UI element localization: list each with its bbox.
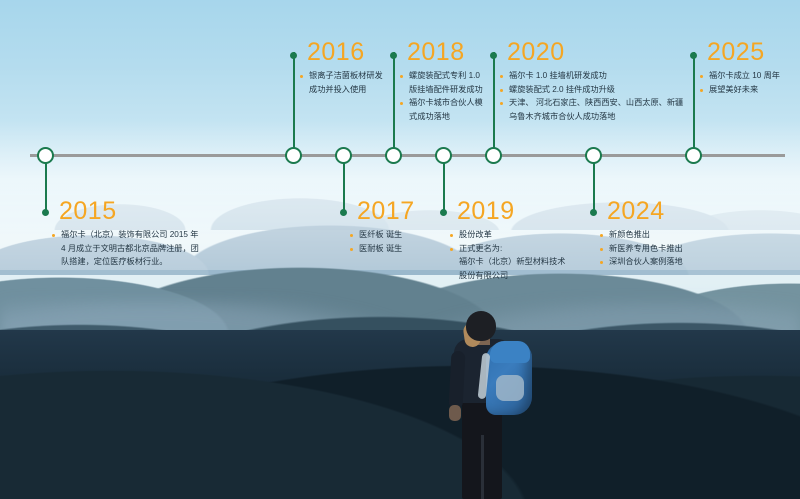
timeline-node-2016[interactable] [285,147,302,164]
timeline-stem-dot-2016 [290,52,297,59]
bullet-item: 股份改革 [450,229,565,242]
bullet-list: 银离子洁菌板材研发成功并投入使用 [300,70,383,96]
year-label-2016: 2016 [307,38,365,67]
hiker-leg-gap [481,435,484,499]
milestone-block-2020: 福尔卡 1.0 挂墙机研发成功螺旋装配式 2.0 挂件成功升级天津、 河北石家庄… [500,70,683,124]
milestone-block-2025: 福尔卡成立 10 周年展望美好未来 [700,70,780,97]
bullet-list: 福尔卡成立 10 周年展望美好未来 [700,70,780,96]
milestone-block-2015: 福尔卡（北京）装饰有限公司 2015 年4 月成立于文明古都北京品牌注册，团队搭… [52,229,199,270]
hiker-head [466,311,496,341]
bullet-item: 医纤板 诞生 [350,229,402,242]
timeline-stem-2015 [45,160,47,212]
bullet-item: 正式更名为: [450,243,565,256]
milestone-block-2024: 新颜色推出新医养专用色卡推出深圳合伙人案例落地 [600,229,683,270]
bullet-list: 新颜色推出新医养专用色卡推出深圳合伙人案例落地 [600,229,683,269]
bullet-item: 队搭建，定位医疗板材行业。 [52,256,199,269]
bullet-item: 银离子洁菌板材研发 [300,70,383,83]
bullet-item: 新医养专用色卡推出 [600,243,683,256]
bullet-list: 福尔卡（北京）装饰有限公司 2015 年4 月成立于文明古都北京品牌注册，团队搭… [52,229,199,269]
hiker-hand [449,405,461,421]
timeline-stem-2020 [493,52,495,152]
milestone-block-2017: 医纤板 诞生医耐板 诞生 [350,229,402,256]
hiker-backpack-lid [490,341,530,363]
year-label-2025: 2025 [707,38,765,67]
milestone-block-2016: 银离子洁菌板材研发成功并投入使用 [300,70,383,97]
timeline-infographic: 2016银离子洁菌板材研发成功并投入使用2018螺旋装配式专利 1.0版挂墙配件… [0,0,800,499]
milestone-block-2018: 螺旋装配式专利 1.0版挂墙配件研发成功福尔卡城市合伙人模式成功落地 [400,70,483,124]
timeline-stem-2017 [343,160,345,212]
milestone-block-2019: 股份改革正式更名为:福尔卡（北京）新型材料技术股份有限公司 [450,229,565,283]
bullet-item: 福尔卡（北京）装饰有限公司 2015 年 [52,229,199,242]
bullet-item: 股份有限公司 [450,270,565,283]
year-label-2018: 2018 [407,38,465,67]
timeline-node-2020[interactable] [485,147,502,164]
year-label-2015: 2015 [59,197,117,226]
bullet-item: 福尔卡（北京）新型材料技术 [450,256,565,269]
bullet-list: 医纤板 诞生医耐板 诞生 [350,229,402,255]
timeline-node-2024[interactable] [585,147,602,164]
year-label-2019: 2019 [457,197,515,226]
timeline-node-2019[interactable] [435,147,452,164]
hiker-figure [430,305,550,499]
bullet-item: 福尔卡成立 10 周年 [700,70,780,83]
timeline-stem-dot-2020 [490,52,497,59]
timeline-stem-2016 [293,52,295,152]
bullet-item: 乌鲁木齐城市合伙人成功落地 [500,111,683,124]
timeline-stem-dot-2024 [590,209,597,216]
bullet-list: 福尔卡 1.0 挂墙机研发成功螺旋装配式 2.0 挂件成功升级天津、 河北石家庄… [500,70,683,123]
bullet-item: 成功并投入使用 [300,84,383,97]
year-label-2017: 2017 [357,197,415,226]
timeline-stem-2024 [593,160,595,212]
bullet-item: 展望美好未来 [700,84,780,97]
hiker-backpack-pocket [496,375,524,401]
timeline-stem-dot-2015 [42,209,49,216]
bullet-item: 4 月成立于文明古都北京品牌注册，团 [52,243,199,256]
timeline-axis [30,154,785,157]
timeline-node-2015[interactable] [37,147,54,164]
bullet-item: 福尔卡 1.0 挂墙机研发成功 [500,70,683,83]
timeline-stem-2025 [693,52,695,152]
bullet-list: 螺旋装配式专利 1.0版挂墙配件研发成功福尔卡城市合伙人模式成功落地 [400,70,483,123]
timeline-stem-2018 [393,52,395,152]
bullet-item: 天津、 河北石家庄、陕西西安、山西太原、新疆 [500,97,683,110]
timeline-stem-2019 [443,160,445,212]
year-label-2020: 2020 [507,38,565,67]
timeline-stem-dot-2025 [690,52,697,59]
timeline-node-2017[interactable] [335,147,352,164]
foreground-summit [0,330,800,499]
bullet-item: 螺旋装配式专利 1.0 [400,70,483,83]
bullet-item: 医耐板 诞生 [350,243,402,256]
bullet-item: 式成功落地 [400,111,483,124]
timeline-node-2018[interactable] [385,147,402,164]
timeline-node-2025[interactable] [685,147,702,164]
bullet-list: 股份改革正式更名为:福尔卡（北京）新型材料技术股份有限公司 [450,229,565,282]
timeline-stem-dot-2018 [390,52,397,59]
bullet-item: 福尔卡城市合伙人模 [400,97,483,110]
bullet-item: 新颜色推出 [600,229,683,242]
bullet-item: 螺旋装配式 2.0 挂件成功升级 [500,84,683,97]
timeline-stem-dot-2017 [340,209,347,216]
timeline-stem-dot-2019 [440,209,447,216]
year-label-2024: 2024 [607,197,665,226]
bullet-item: 版挂墙配件研发成功 [400,84,483,97]
bullet-item: 深圳合伙人案例落地 [600,256,683,269]
